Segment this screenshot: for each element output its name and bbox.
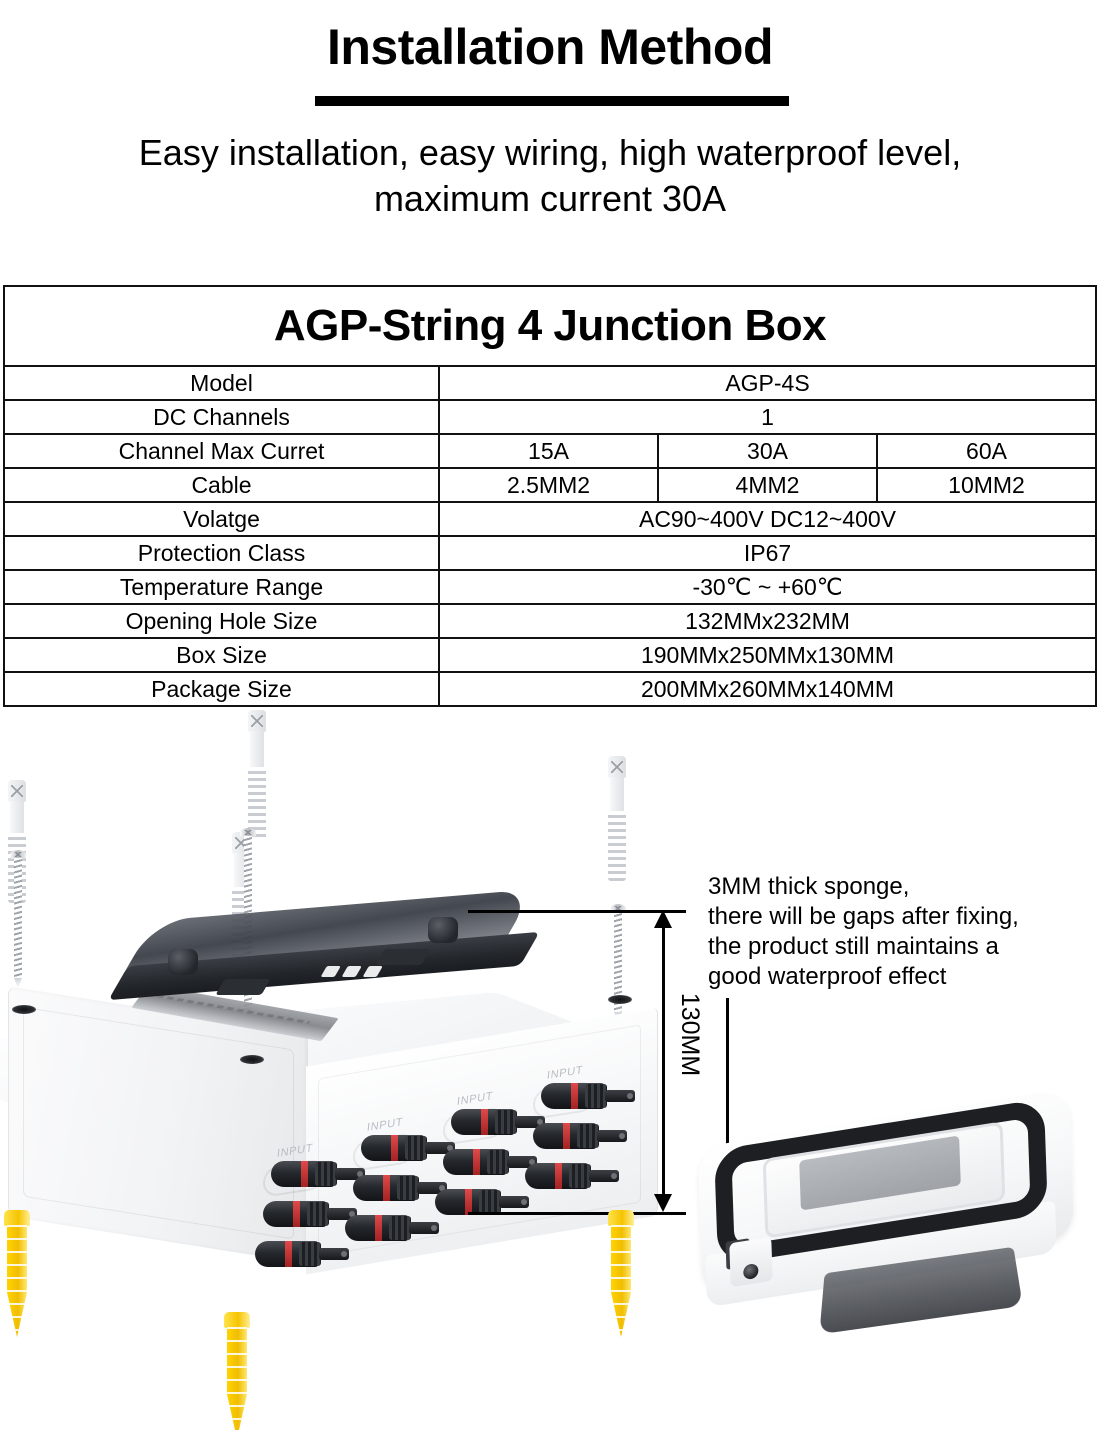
- spec-value-cell: -30℃ ~ +60℃: [439, 570, 1096, 604]
- mc4-connector: [525, 1163, 623, 1189]
- subtitle-line-1: Easy installation, easy wiring, high wat…: [0, 130, 1100, 176]
- spec-label-cell: DC Channels: [4, 400, 439, 434]
- spec-label-cell: Opening Hole Size: [4, 604, 439, 638]
- table-row: ModelAGP-4S: [4, 366, 1096, 400]
- table-row: Opening Hole Size132MMx232MM: [4, 604, 1096, 638]
- callout-line-4: good waterproof effect: [708, 962, 1019, 992]
- spec-value-cell: 10MM2: [877, 468, 1096, 502]
- mc4-connector: [255, 1241, 353, 1267]
- spec-value-cell: 2.5MM2: [439, 468, 658, 502]
- screw-hole: [12, 1005, 36, 1014]
- spec-label-cell: Volatge: [4, 502, 439, 536]
- table-row: Package Size200MMx260MMx140MM: [4, 672, 1096, 706]
- mc4-connector: [345, 1215, 443, 1241]
- spec-value-cell: 60A: [877, 434, 1096, 468]
- table-title: AGP-String 4 Junction Box: [4, 286, 1096, 366]
- spec-value-cell: 30A: [658, 434, 877, 468]
- spec-value-cell: 190MMx250MMx130MM: [439, 638, 1096, 672]
- table-row: Cable2.5MM24MM210MM2: [4, 468, 1096, 502]
- subtitle-line-2: maximum current 30A: [0, 176, 1100, 222]
- installation-illustration: INPUT INPUT INPUT INPUT 130MM: [0, 710, 1100, 1430]
- sponge-callout-text: 3MM thick sponge, there will be gaps aft…: [708, 872, 1019, 992]
- dimension-arrowhead-up-icon: [654, 910, 672, 928]
- spec-value-cell: 1: [439, 400, 1096, 434]
- spec-label-cell: Model: [4, 366, 439, 400]
- spec-label-cell: Cable: [4, 468, 439, 502]
- sponge-gasket-detail-photo: [690, 1090, 1090, 1320]
- dimension-arrow-shaft: [662, 920, 665, 1208]
- spec-label-cell: Temperature Range: [4, 570, 439, 604]
- spec-label-cell: Channel Max Curret: [4, 434, 439, 468]
- page-subtitle: Easy installation, easy wiring, high wat…: [0, 130, 1100, 222]
- lid-vent-slots: [319, 963, 418, 979]
- table-row: Box Size190MMx250MMx130MM: [4, 638, 1096, 672]
- input-port-label: INPUT: [366, 1116, 403, 1134]
- title-underline-bar: [315, 96, 789, 106]
- table-row: Temperature Range-30℃ ~ +60℃: [4, 570, 1096, 604]
- page-title: Installation Method: [0, 18, 1100, 76]
- input-port-label: INPUT: [456, 1090, 493, 1108]
- spec-value-cell: IP67: [439, 536, 1096, 570]
- table-row: Channel Max Curret15A30A60A: [4, 434, 1096, 468]
- spec-value-cell: 15A: [439, 434, 658, 468]
- input-port-label: INPUT: [276, 1142, 313, 1160]
- spec-label-cell: Package Size: [4, 672, 439, 706]
- callout-line-3: the product still maintains a: [708, 932, 1019, 962]
- table-row: DC Channels1: [4, 400, 1096, 434]
- spec-value-cell: AC90~400V DC12~400V: [439, 502, 1096, 536]
- input-port-label: INPUT: [546, 1064, 583, 1082]
- dimension-arrowhead-down-icon: [654, 1194, 672, 1212]
- screw-hole: [608, 995, 632, 1004]
- dimension-extension-line-bottom: [468, 1212, 686, 1215]
- spec-value-cell: AGP-4S: [439, 366, 1096, 400]
- dimension-label-height: 130MM: [675, 993, 704, 1076]
- mc4-connector: [533, 1123, 631, 1149]
- spec-value-cell: 132MMx232MM: [439, 604, 1096, 638]
- callout-line-1: 3MM thick sponge,: [708, 872, 1019, 902]
- gasket-hinge-screw: [729, 1237, 773, 1287]
- spec-label-cell: Protection Class: [4, 536, 439, 570]
- transparent-lid: [128, 905, 520, 1001]
- lid-knob: [428, 917, 458, 943]
- spec-value-cell: 200MMx260MMx140MM: [439, 672, 1096, 706]
- callout-line-2: there will be gaps after fixing,: [708, 902, 1019, 932]
- lid-clip: [215, 979, 270, 995]
- spec-value-cell: 4MM2: [658, 468, 877, 502]
- mc4-connector: [541, 1083, 639, 1109]
- table-row: Protection ClassIP67: [4, 536, 1096, 570]
- spec-label-cell: Box Size: [4, 638, 439, 672]
- mc4-connector-array: INPUT INPUT INPUT INPUT: [265, 1065, 655, 1265]
- table-row: VolatgeAC90~400V DC12~400V: [4, 502, 1096, 536]
- table-title-row: AGP-String 4 Junction Box: [4, 286, 1096, 366]
- screw-hole: [240, 1055, 264, 1064]
- lid-knob: [168, 949, 198, 975]
- specification-table: AGP-String 4 Junction Box ModelAGP-4SDC …: [3, 285, 1097, 707]
- product-infographic: Installation Method Easy installation, e…: [0, 0, 1100, 1430]
